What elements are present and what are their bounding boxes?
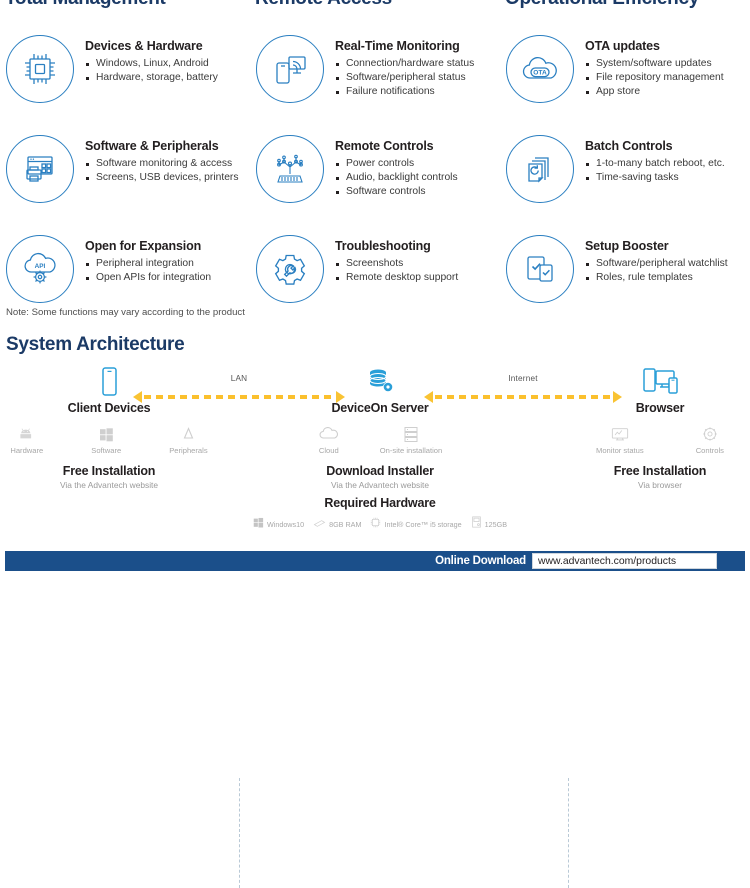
feature-card-troubleshooting: Troubleshooting Screenshots Remote deskt…	[250, 232, 500, 332]
section-divider-left	[239, 778, 240, 888]
feature-bullet: Connection/hardware status	[335, 57, 474, 71]
hardware-item-ram: 8GB RAM	[313, 515, 361, 533]
subicon-onsite-installation: On-site installation	[380, 424, 442, 455]
feature-bullet: App store	[585, 85, 724, 99]
circuit-control-icon	[256, 135, 324, 203]
feature-bullet: Remote desktop support	[335, 271, 458, 285]
hardware-item-label: Intel® Core™ i5 storage	[384, 520, 461, 529]
devices-browser-icon	[535, 364, 750, 398]
feature-bullet: Screens, USB devices, printers	[85, 171, 239, 185]
download-url-text: www.advantech.com/products	[538, 556, 676, 567]
database-gear-icon	[255, 364, 505, 398]
node-headline: Free Installation	[0, 464, 234, 478]
windows-icon	[91, 424, 121, 444]
node-headline: Free Installation	[535, 464, 750, 478]
window-printer-icon	[6, 135, 74, 203]
feature-card-batch-controls: Batch Controls 1-to-many batch reboot, e…	[500, 132, 750, 232]
cpu-icon	[370, 515, 381, 533]
feature-bullets: Peripheral integration Open APIs for int…	[85, 257, 211, 285]
subicon-label: Cloud	[318, 446, 340, 455]
hardware-item-label: 8GB RAM	[329, 520, 361, 529]
column-headings: Total Management Remote Access Operation…	[0, 0, 750, 12]
feature-title: Software & Peripherals	[85, 139, 239, 153]
node-name: Browser	[535, 401, 750, 415]
cloud-icon	[318, 424, 340, 444]
feature-text: Real-Time Monitoring Connection/hardware…	[324, 32, 474, 99]
node-deviceon-server: DeviceOn Server Cloud	[255, 364, 505, 533]
feature-card-setup-booster: Setup Booster Software/peripheral watchl…	[500, 232, 750, 332]
feature-bullet: Open APIs for integration	[85, 271, 211, 285]
feature-bullet: Hardware, storage, battery	[85, 71, 218, 85]
gear-wrench-icon	[256, 235, 324, 303]
feature-bullet: Time-saving tasks	[585, 171, 725, 185]
ram-stick-icon	[313, 515, 326, 533]
product-note: Note: Some functions may vary according …	[6, 307, 245, 318]
column-heading-total-management: Total Management	[5, 0, 250, 12]
feature-bullet: Software monitoring & access	[85, 157, 239, 171]
node-subline: Via the Advantech website	[0, 480, 234, 490]
subicon-label: Controls	[696, 446, 724, 455]
node-subline: Via the Advantech website	[255, 480, 505, 490]
node-client-devices: Client Devices Hardware	[0, 364, 234, 490]
tablet-phone-check-icon	[506, 235, 574, 303]
subicon-peripherals: Peripherals	[169, 424, 207, 455]
node-subicons: Cloud On-site installation	[255, 424, 505, 455]
cloud-ota-icon: OTA	[506, 35, 574, 103]
hdd-icon	[471, 515, 482, 533]
node-name: DeviceOn Server	[255, 401, 505, 415]
feature-bullets: Power controls Audio, backlight controls…	[335, 157, 458, 199]
online-download-label: Online Download	[435, 555, 526, 567]
cloud-api-gear-icon: API	[6, 235, 74, 303]
droplet-icon	[169, 424, 207, 444]
section-divider-right	[568, 778, 569, 888]
hardware-item-cpu: Intel® Core™ i5 storage	[370, 515, 461, 533]
column-heading-operational-efficiency: Operational Efficiency	[505, 0, 750, 12]
column-heading-remote-access: Remote Access	[255, 0, 500, 12]
heading-col-2: Operational Efficiency	[500, 0, 750, 12]
subicon-label: Monitor status	[596, 446, 644, 455]
subicon-label: On-site installation	[380, 446, 442, 455]
feature-bullets: System/software updates File repository …	[585, 57, 724, 99]
feature-bullet: Software/peripheral watchlist	[585, 257, 728, 271]
feature-title: Remote Controls	[335, 139, 458, 153]
feature-text: Setup Booster Software/peripheral watchl…	[574, 232, 728, 285]
feature-text: Remote Controls Power controls Audio, ba…	[324, 132, 458, 199]
feature-text: Troubleshooting Screenshots Remote deskt…	[324, 232, 458, 285]
feature-bullet: Peripheral integration	[85, 257, 211, 271]
subicon-label: Peripherals	[169, 446, 207, 455]
feature-bullet: Failure notifications	[335, 85, 474, 99]
feature-bullets: Software monitoring & access Screens, US…	[85, 157, 239, 185]
feature-title: Troubleshooting	[335, 239, 458, 253]
feature-title: Open for Expansion	[85, 239, 211, 253]
feature-title: Setup Booster	[585, 239, 728, 253]
feature-grid: Devices & Hardware Windows, Linux, Andro…	[0, 32, 750, 332]
download-url-box[interactable]: www.advantech.com/products	[532, 553, 717, 569]
feature-bullets: Windows, Linux, Android Hardware, storag…	[85, 57, 218, 85]
feature-bullet: System/software updates	[585, 57, 724, 71]
feature-title: Real-Time Monitoring	[335, 39, 474, 53]
svg-text:API: API	[35, 263, 46, 270]
feature-bullet: Audio, backlight controls	[335, 171, 458, 185]
feature-bullet: Screenshots	[335, 257, 458, 271]
node-subicons: Monitor status Controls	[535, 424, 750, 455]
android-icon	[10, 424, 43, 444]
feature-card-software-peripherals: Software & Peripherals Software monitori…	[0, 132, 250, 232]
feature-bullet: Windows, Linux, Android	[85, 57, 218, 71]
server-rack-icon	[380, 424, 442, 444]
subicon-label: Software	[91, 446, 121, 455]
feature-title: Devices & Hardware	[85, 39, 218, 53]
feature-card-remote-controls: Remote Controls Power controls Audio, ba…	[250, 132, 500, 232]
heading-col-1: Remote Access	[250, 0, 500, 12]
node-headline: Download Installer	[255, 464, 505, 478]
subicon-label: Hardware	[10, 446, 43, 455]
node-headline-required-hardware: Required Hardware	[255, 496, 505, 510]
subicon-software: Software	[91, 424, 121, 455]
feature-bullet: Roles, rule templates	[585, 271, 728, 285]
feature-bullet: Power controls	[335, 157, 458, 171]
subicon-hardware: Hardware	[10, 424, 43, 455]
subicon-cloud: Cloud	[318, 424, 340, 455]
monitor-phone-signal-icon	[256, 35, 324, 103]
subicon-controls: Controls	[696, 424, 724, 455]
feature-title: Batch Controls	[585, 139, 725, 153]
feature-bullets: Connection/hardware status Software/peri…	[335, 57, 474, 99]
feature-bullet: 1-to-many batch reboot, etc.	[585, 157, 725, 171]
feature-text: Open for Expansion Peripheral integratio…	[74, 232, 211, 285]
monitor-status-icon	[596, 424, 644, 444]
stacked-docs-refresh-icon	[506, 135, 574, 203]
feature-bullets: Screenshots Remote desktop support	[335, 257, 458, 285]
gear-controls-icon	[696, 424, 724, 444]
feature-bullet: File repository management	[585, 71, 724, 85]
feature-text: OTA updates System/software updates File…	[574, 32, 724, 99]
hardware-item-label: Windows10	[267, 520, 304, 529]
subicon-monitor-status: Monitor status	[596, 424, 644, 455]
feature-text: Batch Controls 1-to-many batch reboot, e…	[574, 132, 725, 185]
system-architecture-diagram: LAN Internet Client Devices	[0, 362, 750, 532]
system-architecture-title: System Architecture	[6, 334, 184, 356]
smartphone-icon	[0, 364, 234, 398]
node-browser: Browser Monitor status	[535, 364, 750, 490]
feature-text: Devices & Hardware Windows, Linux, Andro…	[74, 32, 218, 85]
node-subicons: Hardware Software Peripherals	[0, 424, 234, 455]
feature-bullets: 1-to-many batch reboot, etc. Time-saving…	[585, 157, 725, 185]
hardware-item-windows10: Windows10	[253, 515, 304, 533]
svg-text:OTA: OTA	[533, 70, 547, 77]
feature-bullets: Software/peripheral watchlist Roles, rul…	[585, 257, 728, 285]
hardware-item-storage: 125GB	[471, 515, 507, 533]
feature-bullet: Software/peripheral status	[335, 71, 474, 85]
required-hardware-row: Windows10 8GB RAM Intel® Core™ i5 sto	[255, 515, 505, 533]
windows-icon	[253, 515, 264, 533]
feature-card-ota-updates: OTA OTA updates System/software updates …	[500, 32, 750, 132]
node-subline: Via browser	[535, 480, 750, 490]
footer-bar: Online Download www.advantech.com/produc…	[5, 551, 745, 571]
feature-card-devices-hardware: Devices & Hardware Windows, Linux, Andro…	[0, 32, 250, 132]
node-name: Client Devices	[0, 401, 234, 415]
feature-title: OTA updates	[585, 39, 724, 53]
feature-bullet: Software controls	[335, 185, 458, 199]
feature-text: Software & Peripherals Software monitori…	[74, 132, 239, 185]
heading-col-0: Total Management	[0, 0, 250, 12]
chip-icon	[6, 35, 74, 103]
feature-card-real-time-monitoring: Real-Time Monitoring Connection/hardware…	[250, 32, 500, 132]
hardware-item-label: 125GB	[485, 520, 507, 529]
